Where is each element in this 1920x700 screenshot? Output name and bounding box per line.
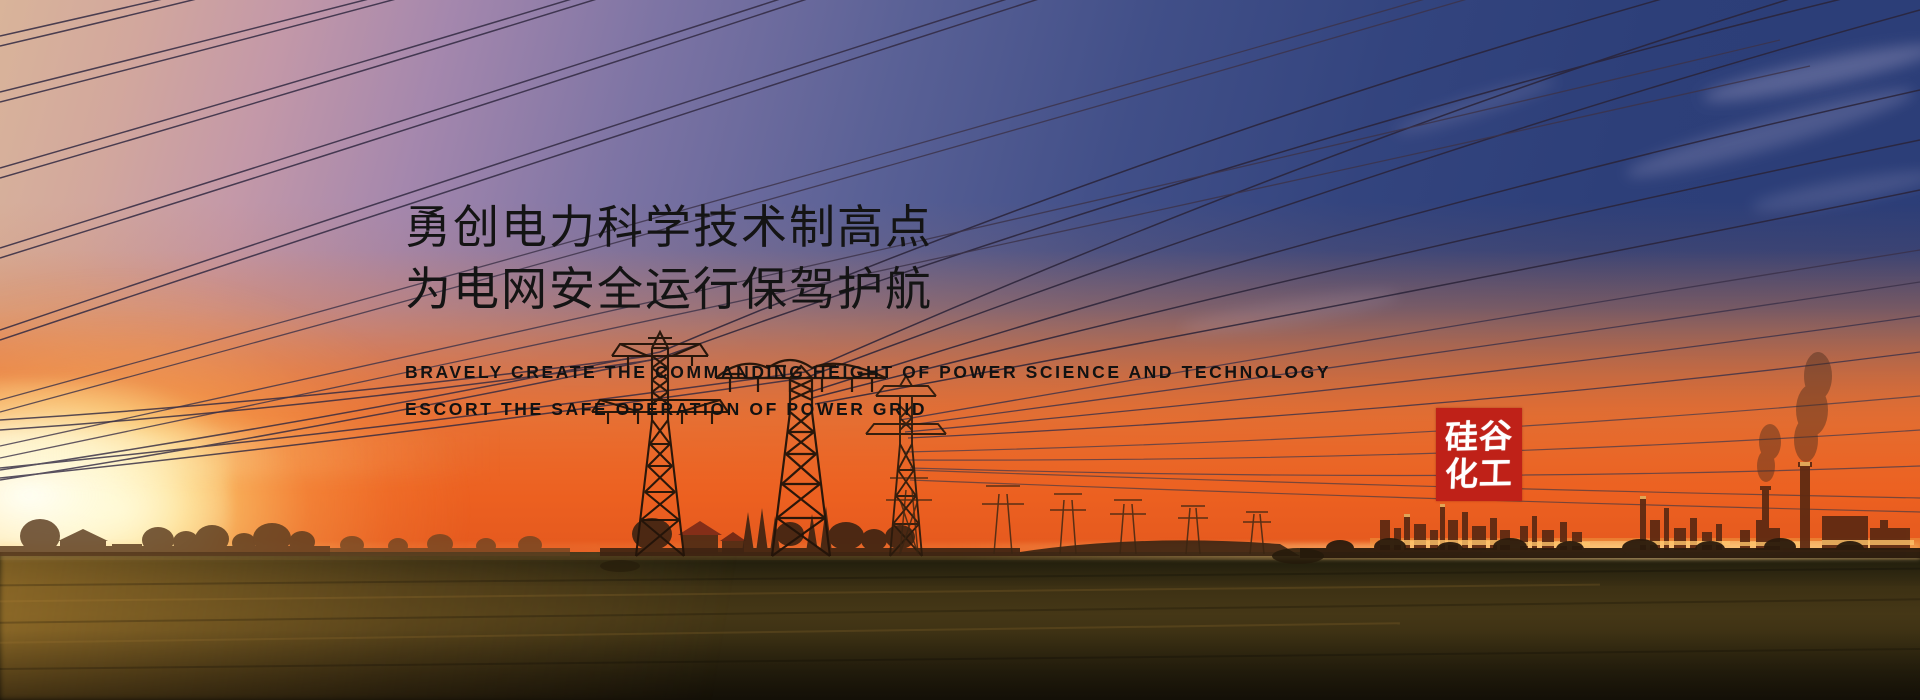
- ground-vignette: [0, 630, 1920, 700]
- headline-block: 勇创电力科学技术制高点 为电网安全运行保驾护航: [405, 196, 933, 320]
- logo-text-line-2: 化工: [1444, 454, 1513, 492]
- headline-line-1: 勇创电力科学技术制高点: [405, 196, 933, 258]
- subtitle-line-1: BRAVELY CREATE THE COMMANDING HEIGHT OF …: [405, 354, 1331, 391]
- horizon-light-strip: [0, 543, 1920, 559]
- company-logo-stamp[interactable]: 硅谷 化工: [1436, 408, 1522, 501]
- logo-text-line-1: 硅谷: [1444, 416, 1513, 455]
- hero-banner: 勇创电力科学技术制高点 为电网安全运行保驾护航 BRAVELY CREATE T…: [0, 0, 1920, 700]
- subtitle-line-2: ESCORT THE SAFE OPERATION OF POWER GRID: [405, 391, 1331, 428]
- headline-line-2: 为电网安全运行保驾护航: [405, 258, 933, 320]
- power-line-cables: [0, 0, 1920, 580]
- subtitle-block: BRAVELY CREATE THE COMMANDING HEIGHT OF …: [405, 354, 1331, 428]
